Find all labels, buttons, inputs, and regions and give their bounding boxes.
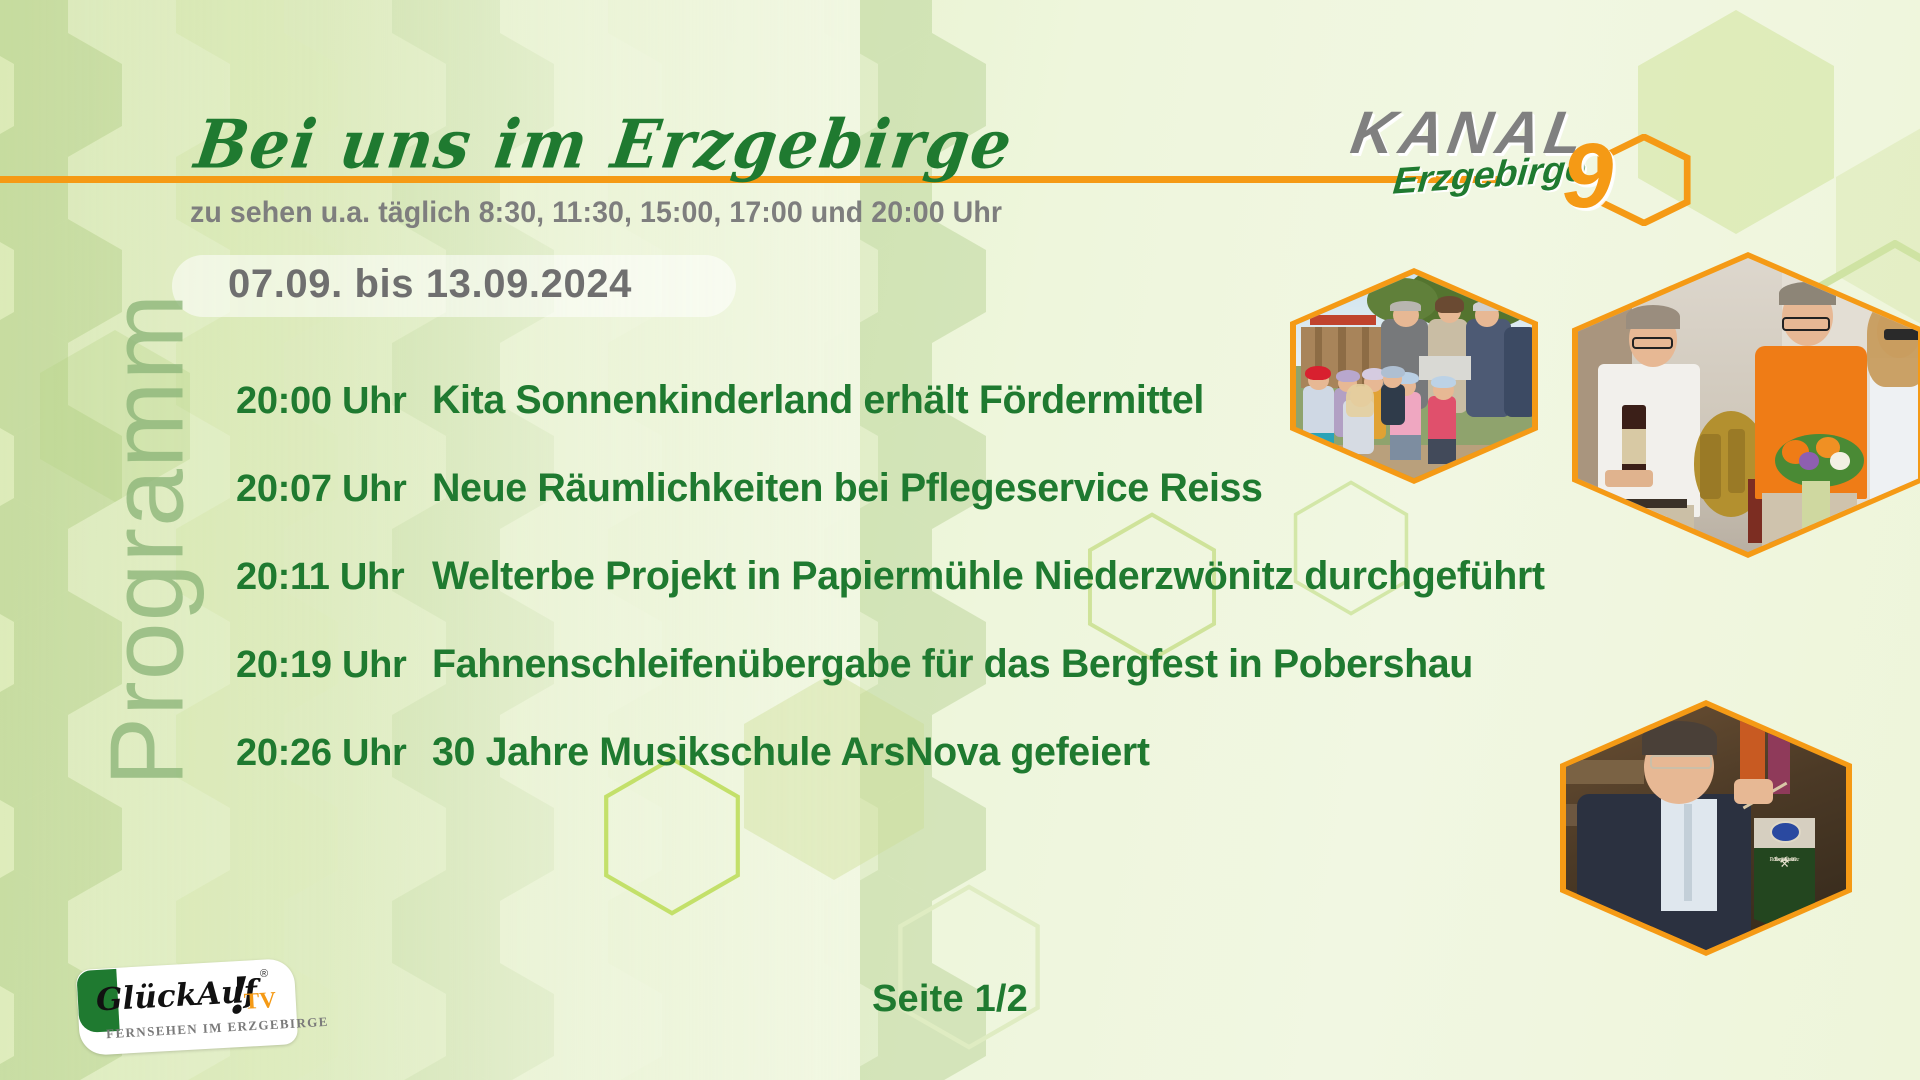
page-indicator: Seite 1/2 — [872, 978, 1028, 1021]
photo-scene — [1296, 274, 1532, 478]
schedule-time: 20:11 Uhr — [236, 556, 432, 599]
banner-dates: 13. - 22.09. — [1754, 857, 1816, 863]
schedule-time: 20:26 Uhr — [236, 732, 432, 775]
schedule-time: 20:07 Uhr — [236, 468, 432, 511]
schedule-title: Welterbe Projekt in Papiermühle Niederzw… — [432, 554, 1545, 599]
schedule-time: 20:00 Uhr — [236, 380, 432, 423]
schedule-title: Kita Sonnenkinderland erhält Fördermitte… — [432, 378, 1204, 423]
tv-suffix: TV — [243, 987, 276, 1015]
schedule-title: Neue Räumlichkeiten bei Pflegeservice Re… — [432, 466, 1263, 511]
kanal-number-nine: 9 — [1562, 130, 1613, 222]
airtimes-text: zu sehen u.a. täglich 8:30, 11:30, 15:00… — [190, 196, 1002, 230]
kanal9-logo: KANAL Erzgebirge 9 — [1344, 96, 1644, 216]
schedule-title: 30 Jahre Musikschule ArsNova gefeiert — [432, 730, 1150, 775]
schedule-time: 20:19 Uhr — [236, 644, 432, 687]
registered-mark: ® — [260, 968, 268, 980]
schedule-row[interactable]: 20:11 Uhr Welterbe Projekt in Papiermühl… — [236, 554, 1536, 642]
glueckauf-tv-logo: GlückAuf ! ® TV FERNSEHEN IM ERZGEBIRGE — [78, 964, 296, 1050]
schedule-row[interactable]: 20:07 Uhr Neue Räumlichkeiten bei Pflege… — [236, 466, 1536, 554]
schedule-row[interactable]: 20:26 Uhr 30 Jahre Musikschule ArsNova g… — [236, 730, 1536, 818]
decorative-hexagon-outline-bottom — [896, 884, 1042, 1050]
date-range-text: 07.09. bis 13.09.2024 — [228, 262, 632, 307]
page-title: Bei uns im Erzgebirge — [190, 105, 1018, 184]
schedule-row[interactable]: 20:19 Uhr Fahnenschleifenübergabe für da… — [236, 642, 1536, 730]
schedule-title: Fahnenschleifenübergabe für das Bergfest… — [432, 642, 1473, 687]
